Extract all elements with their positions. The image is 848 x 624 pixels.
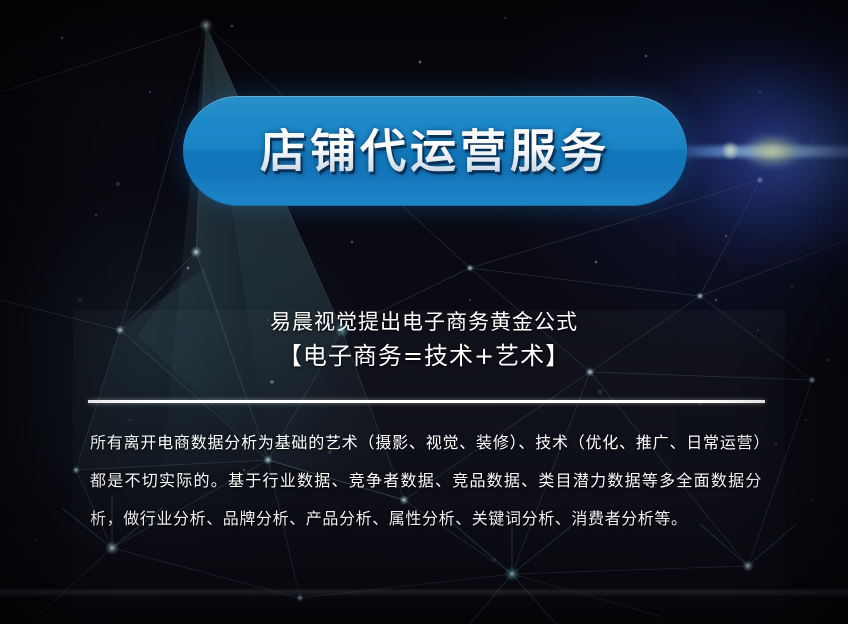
body-paragraph: 所有离开电商数据分析为基础的艺术（摄影、视觉、装修）、技术（优化、推广、日常运营… <box>90 424 762 538</box>
horizontal-divider <box>88 400 765 403</box>
subtitle-line-1: 易晨视觉提出电子商务黄金公式 <box>0 307 848 337</box>
page-title: 店铺代运营服务 <box>260 128 610 174</box>
title-banner-pill: 店铺代运营服务 <box>183 96 687 206</box>
poster-canvas: 店铺代运营服务 易晨视觉提出电子商务黄金公式 【电子商务=技术+艺术】 所有离开… <box>0 0 848 624</box>
subtitle-block: 易晨视觉提出电子商务黄金公式 【电子商务=技术+艺术】 <box>0 307 848 373</box>
subtitle-line-2: 【电子商务=技术+艺术】 <box>0 339 848 373</box>
